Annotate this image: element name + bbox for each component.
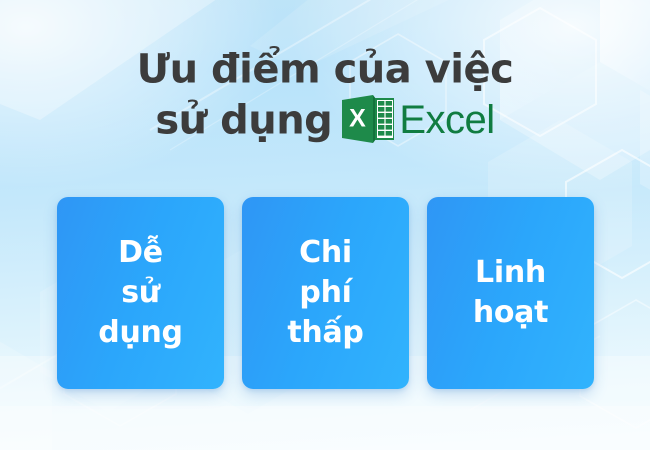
svg-text:X: X [349,105,366,133]
excel-logo-icon: X [342,95,394,143]
banner-title: Ưu điểm của việc sử dụng X [0,44,650,145]
title-line-1: Ưu điểm của việc [0,44,650,95]
advantage-card-flexible[interactable]: Linh hoạt [427,197,594,389]
title-line-2: sử dụng X [0,95,650,146]
advantage-card-label: Chi phí thấp [287,233,363,353]
excel-advantages-banner: Ưu điểm của việc sử dụng X [0,0,650,450]
advantage-card-label: Dễ sử dụng [98,233,182,353]
advantage-card-ease-of-use[interactable]: Dễ sử dụng [57,197,224,389]
title-line-1-text: Ưu điểm của việc [137,47,514,93]
excel-brand-text: Excel [399,98,494,142]
advantage-card-label: Linh hoạt [473,253,548,333]
advantage-card-low-cost[interactable]: Chi phí thấp [242,197,409,389]
title-line-2-prefix: sử dụng [155,97,332,143]
advantage-card-list: Dễ sử dụng Chi phí thấp Linh hoạt [57,197,594,389]
